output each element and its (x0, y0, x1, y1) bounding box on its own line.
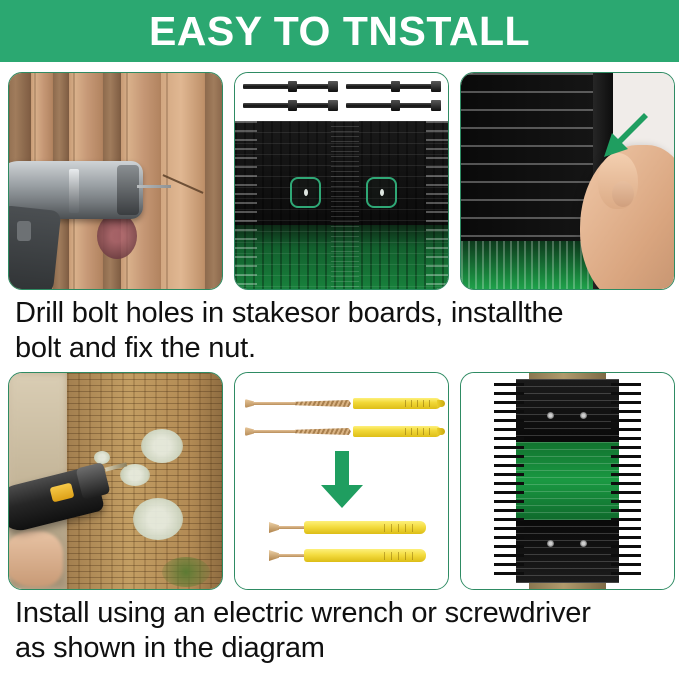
mounting-hole-marker (290, 177, 321, 208)
drill-trigger (17, 221, 31, 241)
drill-collar (117, 165, 139, 215)
assembled-screw-plug (269, 521, 429, 534)
bolt (243, 100, 338, 111)
panel-screws-plugs-image (235, 373, 448, 589)
panel-drill-fence (8, 72, 223, 290)
lichen-patch (94, 451, 110, 464)
arrow-down-icon (319, 451, 365, 509)
panel-bolts-and-mat-image (235, 73, 448, 289)
bristle-rows-green (461, 241, 593, 289)
panel-installed-mat (460, 372, 675, 590)
step-2-caption: Install using an electric wrench or scre… (0, 590, 679, 669)
panel-drill-tree-image (9, 373, 222, 589)
wall-plug (353, 426, 441, 437)
header-banner: EASY TO TNSTALL (0, 0, 679, 62)
mat-right-spikes (611, 383, 641, 579)
hand (9, 531, 63, 587)
mat-right-bristle-edge (426, 121, 448, 289)
assembled-screw-plug (269, 549, 429, 562)
step-1-panel-row (0, 62, 679, 290)
step-2-panel-row (0, 362, 679, 590)
wall-plug (353, 398, 441, 409)
panel-drill-tree (8, 372, 223, 590)
fence-plank (205, 73, 222, 289)
bolt (243, 81, 338, 92)
bolt-set (243, 81, 443, 111)
drill-bit (137, 185, 171, 188)
mounting-hole-marker (366, 177, 397, 208)
step-1-caption: Drill bolt holes in stakesor boards, ins… (0, 290, 679, 362)
panel-screws-plugs (234, 372, 449, 590)
mat-left-spikes (494, 383, 524, 579)
mounting-screw (580, 540, 587, 547)
drill-handle (9, 205, 61, 289)
mat-left-bristle-edge (235, 121, 257, 289)
thumbnail (612, 181, 634, 207)
panel-installed-mat-image (461, 373, 674, 589)
mounting-screw (547, 412, 554, 419)
mat-bristle-texture (516, 379, 618, 583)
lichen-patch (141, 429, 183, 463)
drill-chuck (69, 169, 79, 213)
mat-center-spine (331, 121, 359, 289)
bolt (346, 100, 441, 111)
screw (245, 399, 355, 408)
drill-disc (97, 213, 137, 259)
brush-bristles-green (461, 241, 593, 289)
panel-bolts-and-mat (234, 72, 449, 290)
lichen-patch (120, 464, 150, 486)
screw (245, 427, 355, 436)
bolt (346, 81, 441, 92)
installed-brush-mat (516, 379, 618, 583)
panel-drill-fence-image (9, 73, 222, 289)
page-title: EASY TO TNSTALL (149, 9, 530, 53)
lichen-patch (133, 498, 183, 540)
arrow-down-left-icon (596, 109, 650, 163)
fence-plank-target (161, 73, 205, 289)
panel-insert-bolt-image (461, 73, 674, 289)
brush-mat (235, 121, 448, 289)
panel-insert-bolt (460, 72, 675, 290)
mounting-screw (580, 412, 587, 419)
